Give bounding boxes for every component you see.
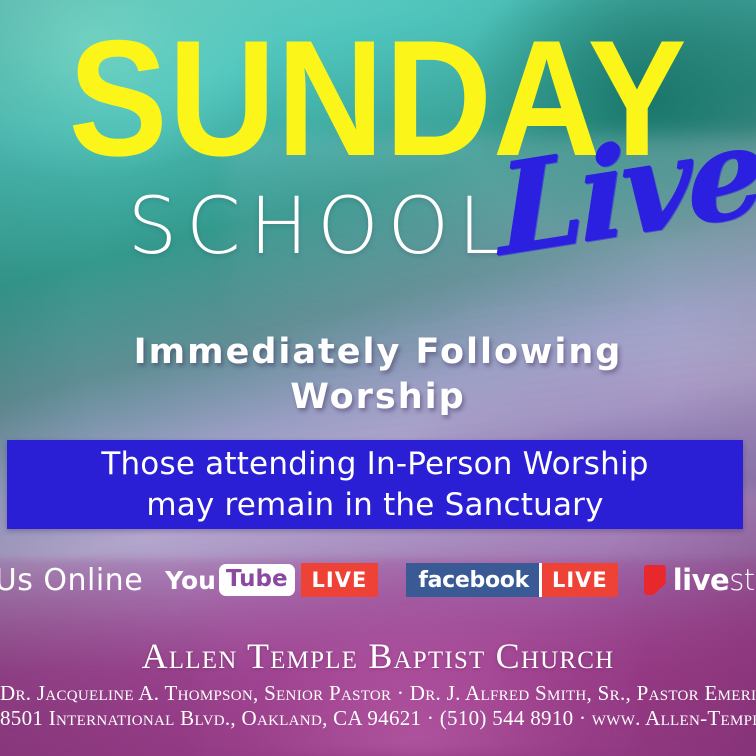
youtube-word-you: You: [165, 568, 216, 593]
youtube-icon: You Tube: [165, 563, 300, 597]
livestream-logo[interactable]: live stream: [644, 563, 756, 597]
livestream-word-stream: stream: [729, 566, 756, 595]
youtube-live-badge: LIVE: [301, 563, 379, 597]
subtitle-line-2: Worship: [0, 375, 756, 420]
footer-contact-line: 8501 International Blvd., Oakland, CA 94…: [0, 706, 756, 731]
livestream-icon: [644, 565, 666, 595]
facebook-live-logo[interactable]: facebook LIVE: [406, 563, 617, 597]
subtitle-line-1: Immediately Following: [0, 330, 756, 375]
facebook-live-badge: LIVE: [542, 563, 618, 597]
youtube-word-tube: Tube: [219, 564, 295, 596]
facebook-icon: facebook: [406, 563, 539, 597]
join-us-online-label: Join Us Online: [0, 563, 143, 598]
in-person-notice-text: Those attending In-Person Worship may re…: [101, 444, 648, 525]
livestream-word-live: live: [673, 566, 729, 595]
church-name: Allen Temple Baptist Church: [0, 635, 756, 677]
subtitle-block: Immediately Following Worship: [0, 330, 756, 420]
sunday-school-live-flyer: SUNDAY SCHOOL Live Immediately Following…: [0, 0, 756, 756]
footer-leaders-line: Dr. Jacqueline A. Thompson, Senior Pasto…: [0, 681, 756, 706]
join-online-row: Join Us Online You Tube LIVE facebook LI…: [0, 556, 756, 604]
youtube-live-logo[interactable]: You Tube LIVE: [165, 563, 378, 597]
in-person-notice-banner: Those attending In-Person Worship may re…: [7, 440, 743, 529]
headline-live-script: Live: [496, 108, 756, 274]
